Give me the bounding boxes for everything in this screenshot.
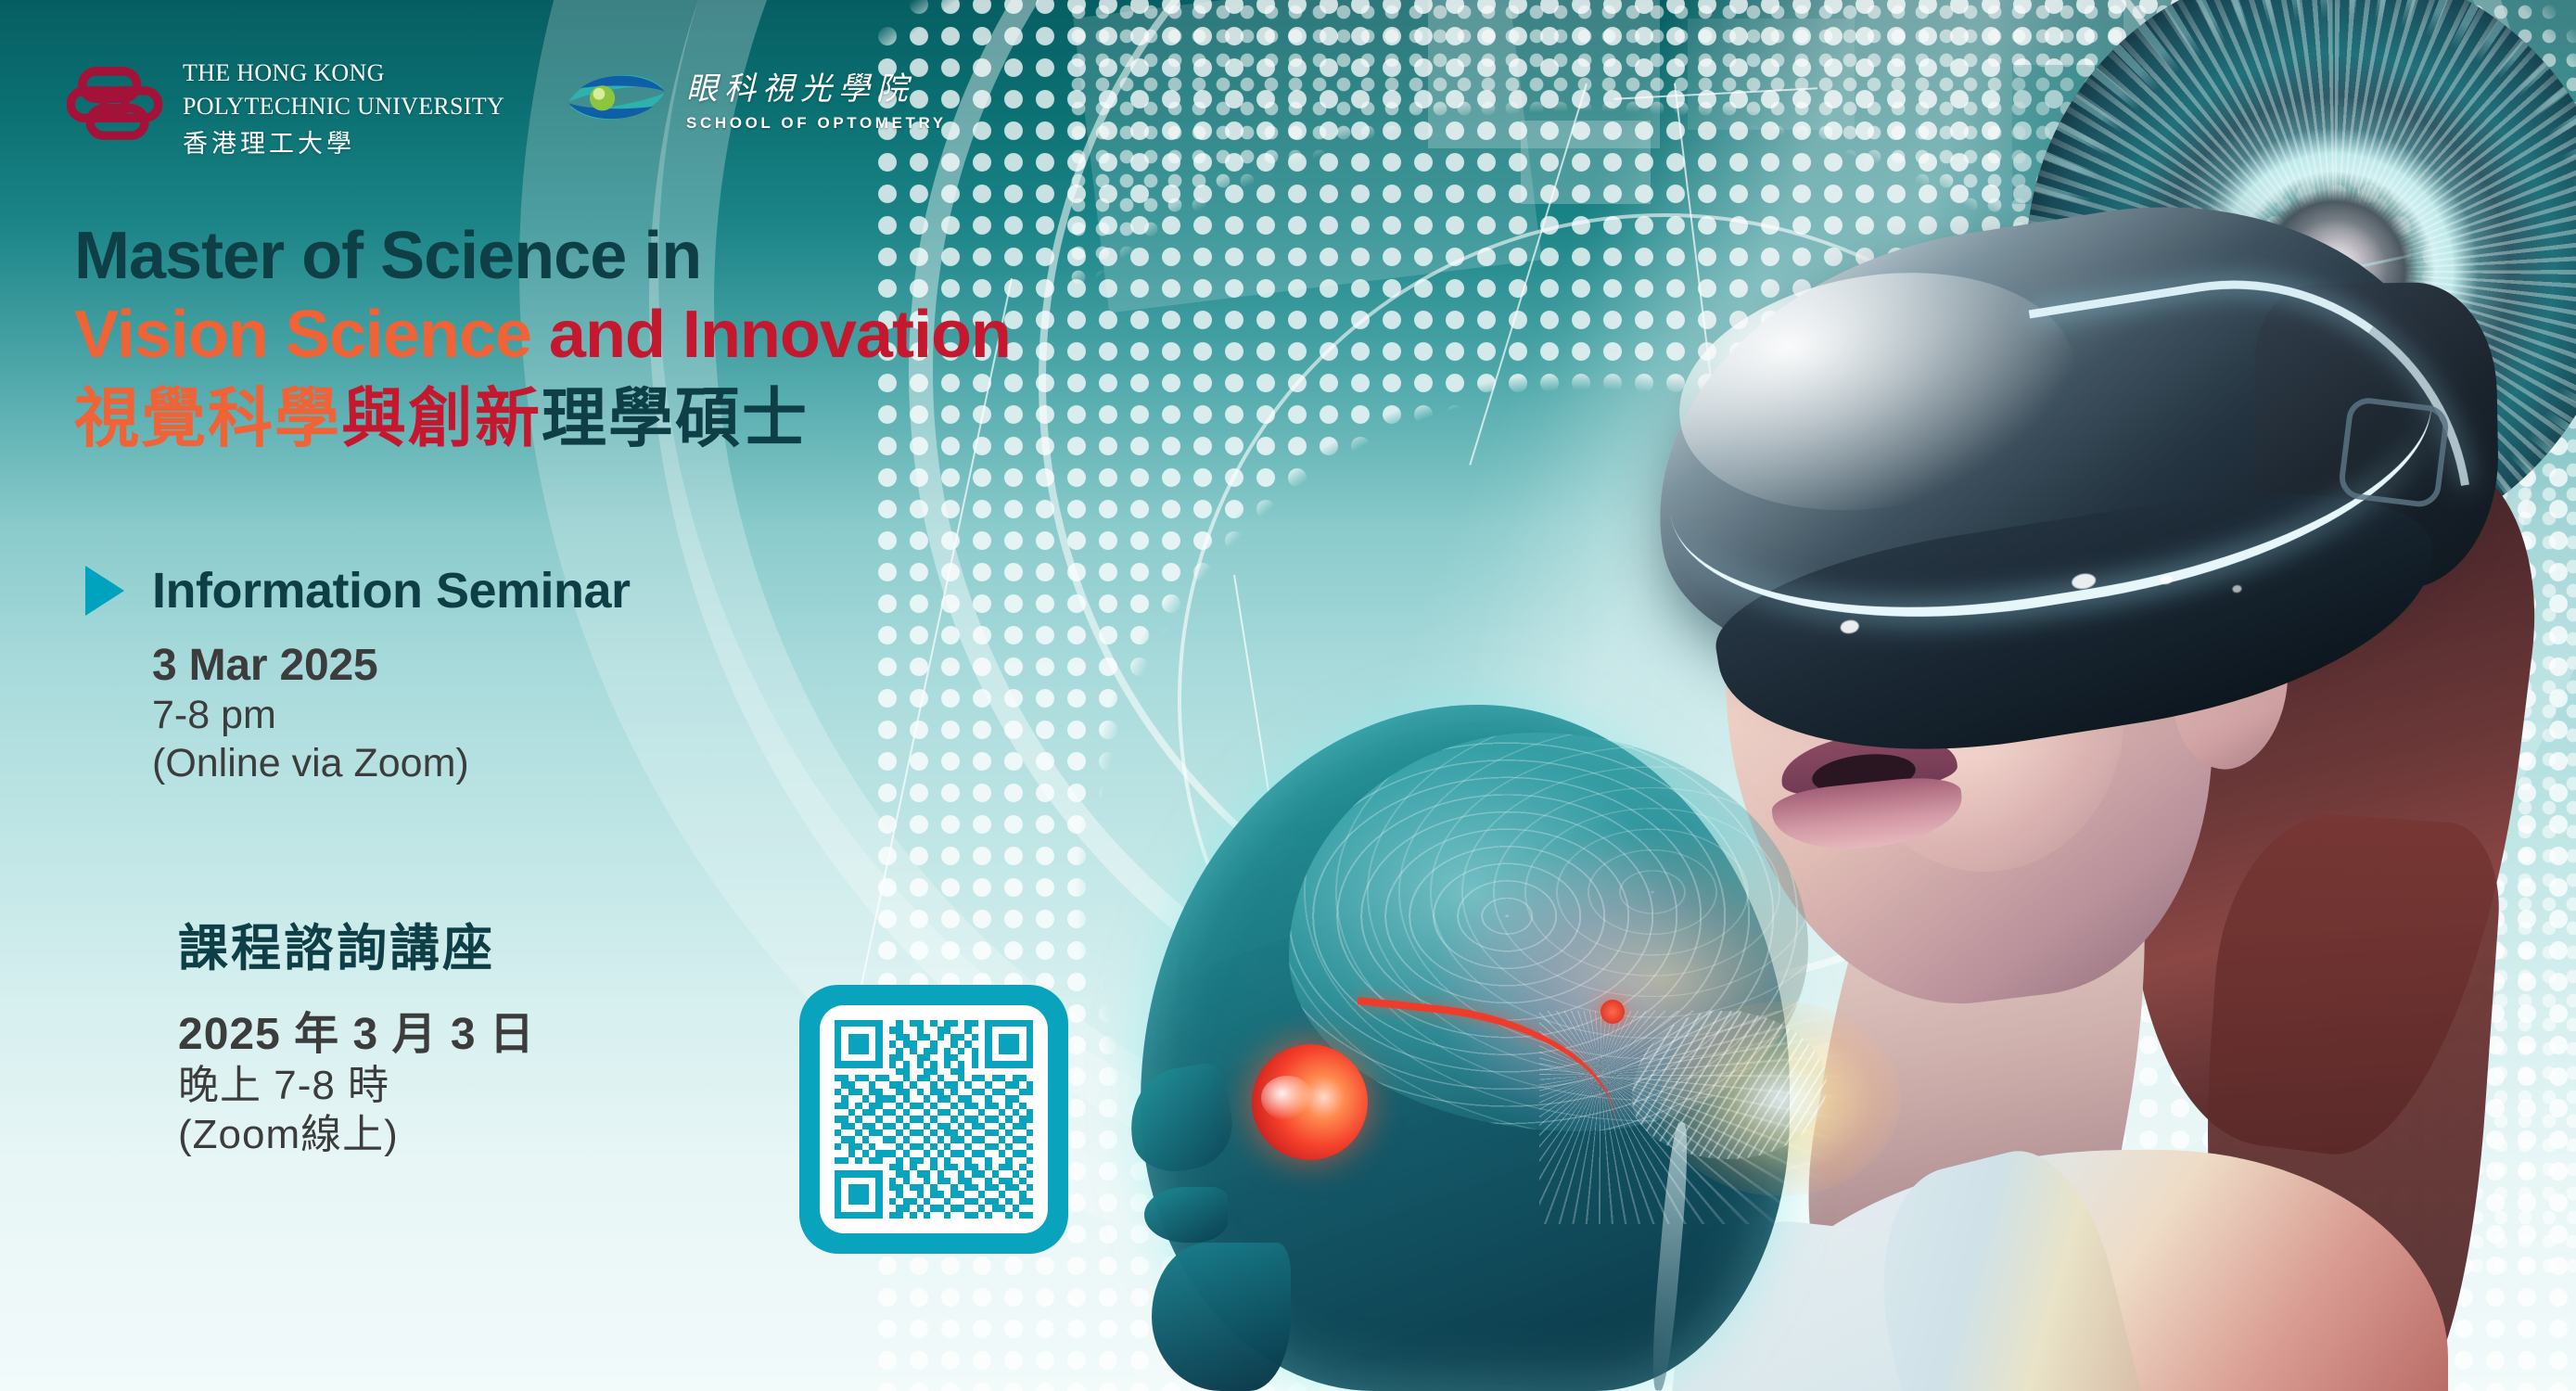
seminar-en-block: Information Seminar 3 Mar 2025 7-8 pm (O… bbox=[85, 562, 631, 788]
seminar-en-heading-row: Information Seminar bbox=[85, 562, 631, 619]
registration-qr-code[interactable] bbox=[799, 985, 1068, 1254]
title-vision-science: Vision Science bbox=[74, 298, 531, 372]
optometry-name-zh: 眼科視光學院 bbox=[686, 63, 947, 108]
title-line-zh: 視覺科學與創新理學碩士 bbox=[74, 379, 1011, 458]
polyu-name-zh: 香港理工大學 bbox=[183, 123, 504, 160]
polyu-logo: THE HONG KONG POLYTECHNIC UNIVERSITY 香港理… bbox=[67, 48, 504, 160]
seminar-zh-block: 課程諮詢講座 2025 年 3 月 3 日 晚上 7-8 時 (Zoom線上) bbox=[178, 907, 535, 1160]
title-line-2: Vision Science and Innovation bbox=[74, 291, 1011, 379]
vr-headset bbox=[1622, 162, 2487, 719]
seminar-zh-mode: (Zoom線上) bbox=[178, 1111, 535, 1160]
programme-title: Master of Science in Vision Science and … bbox=[74, 221, 1011, 459]
polyu-name-en-line2: POLYTECHNIC UNIVERSITY bbox=[183, 87, 504, 121]
title-zh-vision-science: 視覺科學 bbox=[74, 382, 341, 454]
promo-banner: THE HONG KONG POLYTECHNIC UNIVERSITY 香港理… bbox=[0, 0, 2576, 1391]
thin-line-3 bbox=[1613, 87, 1817, 100]
optometry-eye-icon bbox=[562, 54, 671, 139]
optometry-wordmark: 眼科視光學院 SCHOOL OF OPTOMETRY bbox=[686, 54, 947, 133]
title-zh-innovation: 創新 bbox=[408, 382, 542, 454]
seminar-zh-date: 2025 年 3 月 3 日 bbox=[178, 997, 535, 1062]
polyu-name-en-line1: THE HONG KONG bbox=[183, 54, 504, 87]
polyu-wordmark: THE HONG KONG POLYTECHNIC UNIVERSITY 香港理… bbox=[183, 48, 504, 160]
seminar-zh-heading: 課程諮詢講座 bbox=[178, 907, 535, 980]
optometry-logo: 眼科視光學院 SCHOOL OF OPTOMETRY bbox=[562, 48, 947, 139]
seminar-zh-time: 晚上 7-8 時 bbox=[178, 1062, 535, 1111]
seminar-en-mode: (Online via Zoom) bbox=[152, 739, 631, 787]
vr-side-lens bbox=[2337, 396, 2451, 510]
title-and-innovation: and Innovation bbox=[531, 298, 1011, 372]
title-line-1: Master of Science in bbox=[74, 221, 1011, 291]
logo-row: THE HONG KONG POLYTECHNIC UNIVERSITY 香港理… bbox=[67, 48, 947, 160]
tech-block-2 bbox=[1428, 0, 1660, 148]
title-zh-and: 與 bbox=[341, 382, 408, 454]
content-column: THE HONG KONG POLYTECHNIC UNIVERSITY 香港理… bbox=[0, 0, 1391, 1391]
optometry-name-en: SCHOOL OF OPTOMETRY bbox=[686, 114, 947, 133]
seminar-en-date: 3 Mar 2025 bbox=[152, 640, 631, 691]
seminar-en-heading: Information Seminar bbox=[152, 562, 631, 619]
title-zh-msc: 理學碩士 bbox=[542, 382, 809, 454]
seminar-en-time: 7-8 pm bbox=[152, 691, 631, 739]
polyu-knot-icon bbox=[67, 54, 164, 151]
tech-block-3 bbox=[1688, 19, 1855, 130]
triangle-bullet-icon bbox=[85, 566, 124, 616]
qr-inner-panel bbox=[820, 1005, 1048, 1233]
qr-module-grid bbox=[835, 1020, 1033, 1219]
optic-chiasm-node bbox=[1600, 1000, 1625, 1024]
